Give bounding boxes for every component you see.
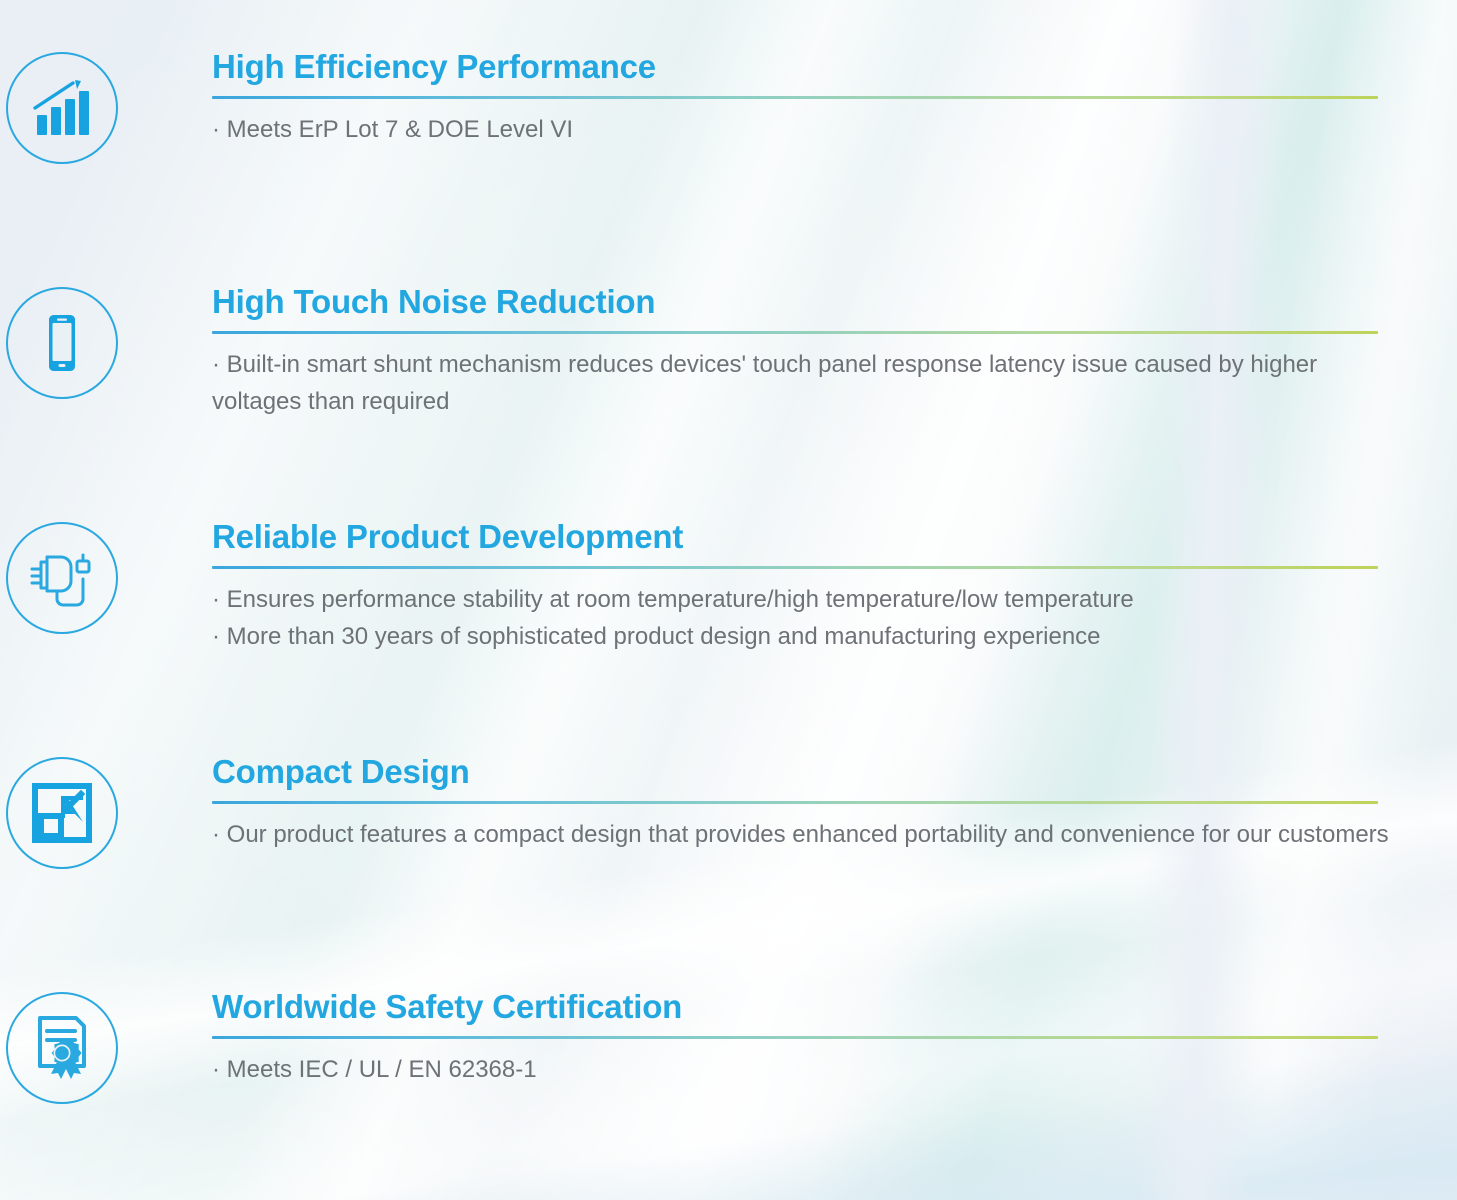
feature-bullets: · Meets ErP Lot 7 & DOE Level VI	[212, 111, 1457, 148]
feature-item-high-efficiency-performance: High Efficiency Performance · Meets ErP …	[0, 50, 1457, 164]
feature-title: Compact Design	[212, 755, 1457, 790]
feature-body: High Touch Noise Reduction · Built-in sm…	[124, 285, 1457, 421]
feature-divider	[212, 96, 1378, 99]
feature-divider	[212, 566, 1378, 569]
feature-bullets: · Ensures performance stability at room …	[212, 581, 1457, 656]
feature-body: Reliable Product Development · Ensures p…	[124, 520, 1457, 656]
power-adapter-icon	[27, 545, 97, 611]
feature-icon-wrap	[0, 755, 124, 869]
feature-body: Compact Design · Our product features a …	[124, 755, 1457, 853]
feature-title: High Touch Noise Reduction	[212, 285, 1457, 320]
feature-icon-wrap	[0, 285, 124, 399]
feature-bullet: · Ensures performance stability at room …	[212, 581, 1457, 618]
feature-divider	[212, 1036, 1378, 1039]
feature-divider	[212, 801, 1378, 804]
feature-divider	[212, 331, 1378, 334]
feature-item-compact-design: Compact Design · Our product features a …	[0, 755, 1457, 869]
icon-circle	[6, 287, 118, 399]
icon-circle	[6, 992, 118, 1104]
feature-title: Worldwide Safety Certification	[212, 990, 1457, 1025]
feature-body: Worldwide Safety Certification · Meets I…	[124, 990, 1457, 1088]
feature-item-reliable-product-development: Reliable Product Development · Ensures p…	[0, 520, 1457, 656]
feature-bullet: · Built-in smart shunt mechanism reduces…	[212, 346, 1392, 421]
feature-title: High Efficiency Performance	[212, 50, 1457, 85]
feature-bullet: · Our product features a compact design …	[212, 816, 1392, 853]
icon-circle	[6, 522, 118, 634]
feature-body: High Efficiency Performance · Meets ErP …	[124, 50, 1457, 148]
compact-resize-icon	[31, 782, 93, 844]
feature-item-high-touch-noise-reduction: High Touch Noise Reduction · Built-in sm…	[0, 285, 1457, 421]
feature-title: Reliable Product Development	[212, 520, 1457, 555]
feature-bullets: · Meets IEC / UL / EN 62368-1	[212, 1051, 1457, 1088]
feature-bullets: · Built-in smart shunt mechanism reduces…	[212, 346, 1457, 421]
icon-circle	[6, 757, 118, 869]
feature-bullet: · More than 30 years of sophisticated pr…	[212, 618, 1457, 655]
feature-item-worldwide-safety-certification: Worldwide Safety Certification · Meets I…	[0, 990, 1457, 1104]
smartphone-icon	[29, 310, 95, 376]
feature-icon-wrap	[0, 990, 124, 1104]
feature-bullet: · Meets ErP Lot 7 & DOE Level VI	[212, 111, 1457, 148]
feature-icon-wrap	[0, 520, 124, 634]
certificate-award-icon	[30, 1014, 94, 1082]
bar-chart-growth-icon	[29, 75, 95, 141]
feature-bullet: · Meets IEC / UL / EN 62368-1	[212, 1051, 1457, 1088]
icon-circle	[6, 52, 118, 164]
feature-icon-wrap	[0, 50, 124, 164]
feature-list: High Efficiency Performance · Meets ErP …	[0, 0, 1457, 1200]
feature-bullets: · Our product features a compact design …	[212, 816, 1457, 853]
